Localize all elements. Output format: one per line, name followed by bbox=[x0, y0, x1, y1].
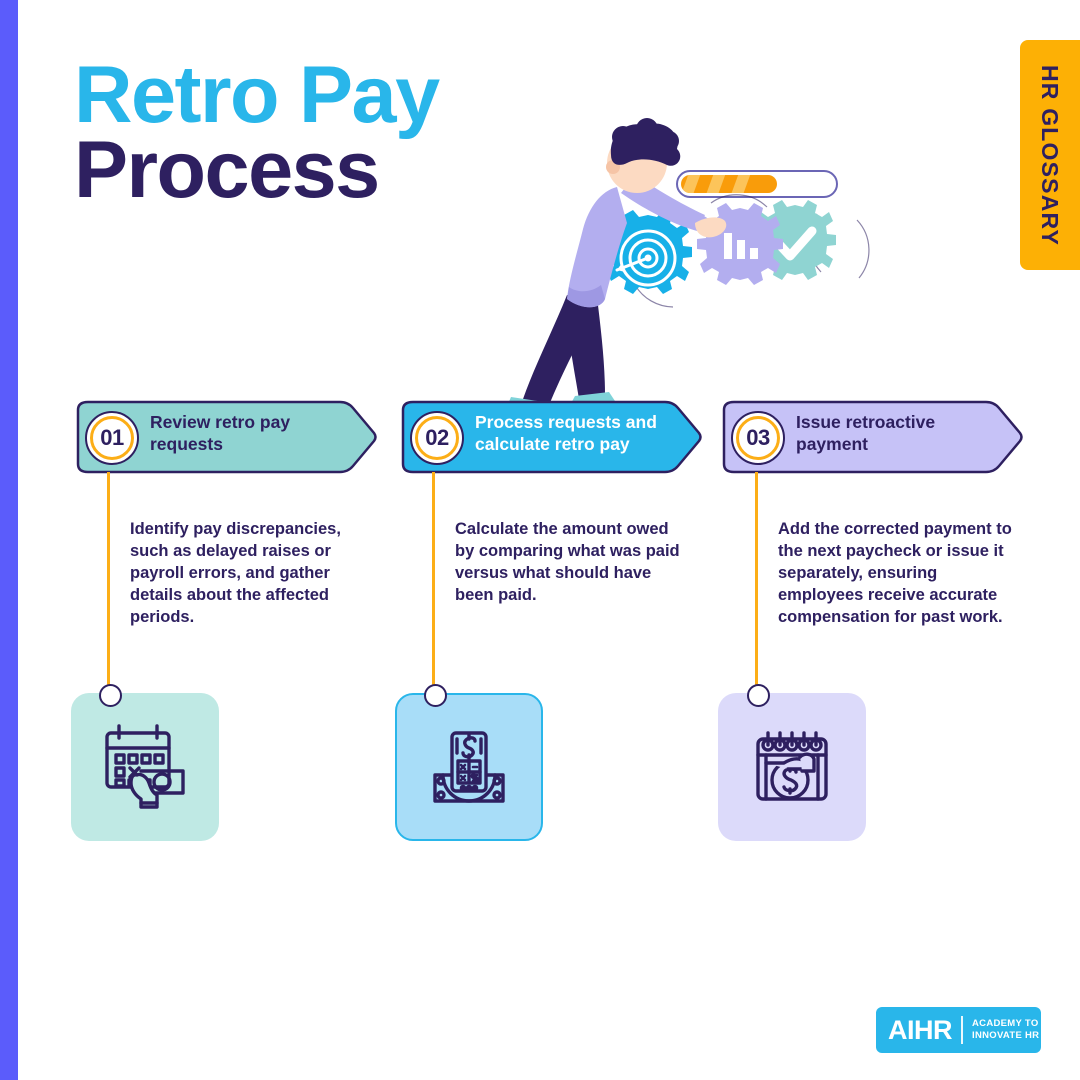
step-description-1: Identify pay discrepancies, such as dela… bbox=[130, 518, 368, 629]
logo-tagline-line-2: INNOVATE HR bbox=[972, 1030, 1039, 1041]
logo-tagline-line-1: ACADEMY TO bbox=[972, 1018, 1039, 1029]
step-icon-card-2 bbox=[395, 693, 543, 841]
step-number-badge-2: 02 bbox=[410, 411, 464, 465]
logo-tagline: ACADEMY TO INNOVATE HR bbox=[972, 1018, 1039, 1042]
logo-mark: AIHR bbox=[888, 1015, 952, 1046]
connector-node-3 bbox=[747, 684, 770, 707]
connector-node-2 bbox=[424, 684, 447, 707]
progress-bar-graphic bbox=[654, 171, 837, 199]
step-title-3: Issue retroactive payment bbox=[796, 412, 1001, 456]
calculator-banknote-icon bbox=[421, 719, 517, 815]
step-description-3: Add the corrected payment to the next pa… bbox=[778, 518, 1023, 629]
hr-glossary-label: HR GLOSSARY bbox=[1037, 64, 1064, 245]
calendar-hand-money-icon bbox=[97, 719, 193, 815]
step-title-2: Process requests and calculate retro pay bbox=[475, 412, 680, 456]
step-title-1: Review retro pay requests bbox=[150, 412, 355, 456]
step-description-2: Calculate the amount owed by comparing w… bbox=[455, 518, 680, 606]
connector-line-2 bbox=[432, 472, 435, 694]
connector-line-3 bbox=[755, 472, 758, 694]
connector-node-1 bbox=[99, 684, 122, 707]
step-icon-card-3 bbox=[718, 693, 866, 841]
page-title: Retro Pay Process bbox=[74, 58, 439, 209]
infographic-canvas: HR GLOSSARY Retro Pay Process bbox=[0, 0, 1080, 1080]
chart-gear bbox=[697, 195, 783, 285]
title-line-2: Process bbox=[74, 133, 439, 208]
aihr-logo: AIHR ACADEMY TO INNOVATE HR bbox=[876, 1007, 1041, 1053]
step-banner-1[interactable]: 01 Review retro pay requests bbox=[72, 400, 377, 472]
connector-line-1 bbox=[107, 472, 110, 694]
step-number-badge-3: 03 bbox=[731, 411, 785, 465]
hr-glossary-badge: HR GLOSSARY bbox=[1020, 40, 1080, 270]
step-number-2: 02 bbox=[425, 425, 448, 451]
step-banner-3[interactable]: 03 Issue retroactive payment bbox=[718, 400, 1023, 472]
calendar-money-hand-icon bbox=[744, 719, 840, 815]
step-banner-2[interactable]: 02 Process requests and calculate retro … bbox=[397, 400, 702, 472]
step-icon-card-1 bbox=[71, 693, 219, 841]
step-number-badge-1: 01 bbox=[85, 411, 139, 465]
title-line-1: Retro Pay bbox=[74, 58, 439, 133]
left-accent-bar bbox=[0, 0, 18, 1080]
step-number-1: 01 bbox=[100, 425, 123, 451]
step-number-3: 03 bbox=[746, 425, 769, 451]
logo-divider bbox=[961, 1016, 963, 1044]
hero-illustration bbox=[505, 115, 905, 415]
